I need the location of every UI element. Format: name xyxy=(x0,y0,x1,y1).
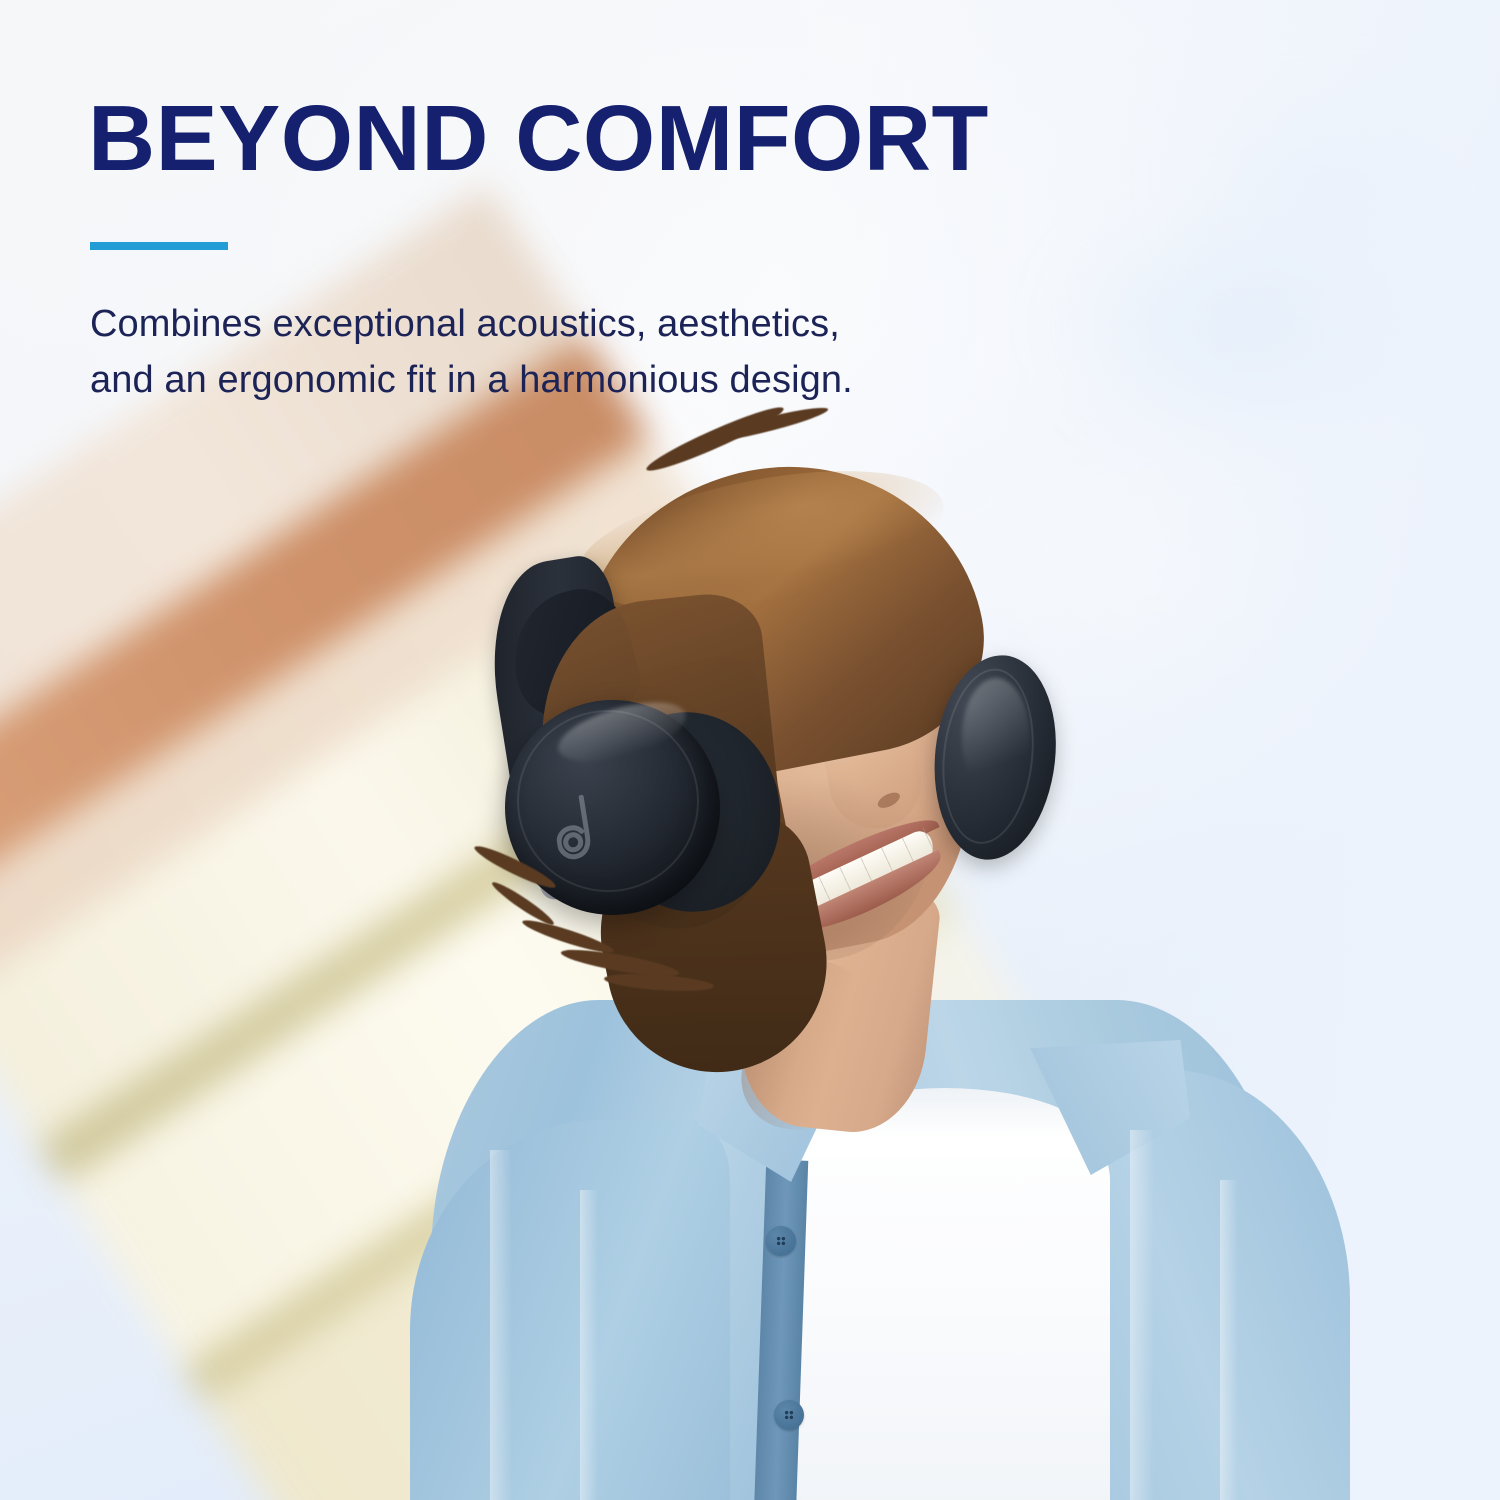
fabric-fold xyxy=(1220,1180,1238,1500)
promo-banner: BEYOND COMFORT Combines exceptional acou… xyxy=(0,0,1500,1500)
fabric-fold xyxy=(580,1190,598,1500)
shirt-button xyxy=(774,1400,804,1430)
accent-divider xyxy=(90,242,228,250)
earcup-highlight xyxy=(962,678,1030,798)
page-title: BEYOND COMFORT xyxy=(88,92,989,185)
shirt-button xyxy=(766,1226,796,1256)
page-subtitle: Combines exceptional acoustics, aestheti… xyxy=(90,296,853,408)
fabric-fold xyxy=(1130,1130,1154,1500)
person-photo xyxy=(0,0,1500,1500)
fabric-fold xyxy=(490,1150,512,1500)
